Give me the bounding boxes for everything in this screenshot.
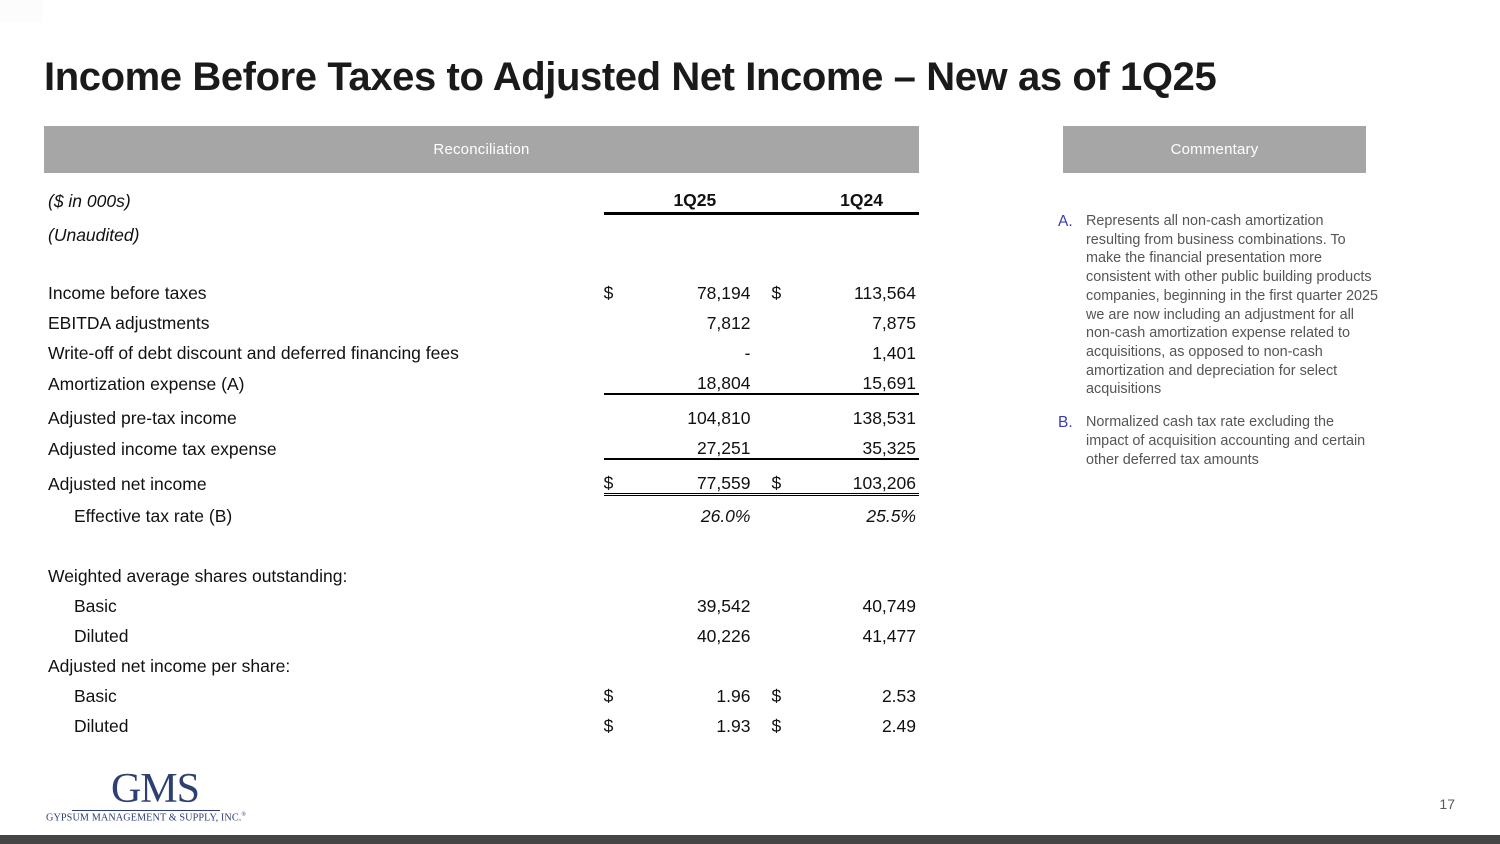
note-marker: A. <box>1058 212 1086 399</box>
reconciliation-section-label: Reconciliation <box>433 141 529 158</box>
row-currency-1q25 <box>604 333 640 363</box>
row-label: Adjusted net income <box>44 459 604 495</box>
row-currency-1q25: $ <box>604 706 640 736</box>
corner-artifact <box>0 0 42 22</box>
row-value-1q25: - <box>639 333 753 363</box>
row-label: Basic <box>44 586 604 616</box>
table-row-subtotal: Adjusted pre-tax income 104,810 138,531 <box>44 394 919 428</box>
row-value-1q25: 1.93 <box>639 706 753 736</box>
eps-section-header-row: Adjusted net income per share: <box>44 646 919 676</box>
commentary-section-label: Commentary <box>1171 141 1259 158</box>
page-title: Income Before Taxes to Adjusted Net Inco… <box>44 55 1216 100</box>
logo-wordmark-text: GYPSUM MANAGEMENT & SUPPLY, INC. <box>46 812 241 823</box>
row-value-1q24: 15,691 <box>807 363 919 394</box>
commentary-panel: A. Represents all non-cash amortization … <box>1058 212 1378 483</box>
gms-logo: GMS GYPSUM MANAGEMENT & SUPPLY, INC.® <box>46 770 246 823</box>
table-row: Amortization expense (A) 18,804 15,691 <box>44 363 919 394</box>
row-value-1q24: 103,206 <box>807 459 919 495</box>
row-currency-1q24 <box>753 303 807 333</box>
row-currency-1q24 <box>753 616 807 646</box>
row-currency-1q24 <box>753 495 807 527</box>
table-row: Diluted 40,226 41,477 <box>44 616 919 646</box>
table-row: Diluted $ 1.93 $ 2.49 <box>44 706 919 736</box>
row-value-1q25: 7,812 <box>639 303 753 333</box>
registered-trademark-icon: ® <box>241 812 246 818</box>
row-label: Diluted <box>44 616 604 646</box>
row-value-1q24: 35,325 <box>807 428 919 459</box>
row-value-1q25: 104,810 <box>639 394 753 428</box>
row-value-1q25: 39,542 <box>639 586 753 616</box>
commentary-note-b: B. Normalized cash tax rate excluding th… <box>1058 413 1378 469</box>
row-currency-1q25 <box>604 394 640 428</box>
row-value-1q25: 78,194 <box>639 273 753 303</box>
row-label: Adjusted pre-tax income <box>44 394 604 428</box>
row-currency-1q24: $ <box>753 706 807 736</box>
row-currency-1q25 <box>604 495 640 527</box>
row-currency-1q25: $ <box>604 676 640 706</box>
table-row: Write-off of debt discount and deferred … <box>44 333 919 363</box>
column-header-1q25: 1Q25 <box>639 176 753 214</box>
row-value-1q24: 7,875 <box>807 303 919 333</box>
page-number: 17 <box>1439 796 1455 812</box>
row-label: Write-off of debt discount and deferred … <box>44 333 604 363</box>
shares-header: Weighted average shares outstanding: <box>44 556 604 586</box>
spacer-row <box>44 245 919 273</box>
spacer-row <box>44 526 919 556</box>
shares-section-header-row: Weighted average shares outstanding: <box>44 556 919 586</box>
row-label: Adjusted income tax expense <box>44 428 604 459</box>
column-header-1q24: 1Q24 <box>807 176 919 214</box>
commentary-section-header: Commentary <box>1063 126 1366 173</box>
table-header-row: ($ in 000s) 1Q25 1Q24 <box>44 176 919 214</box>
row-currency-1q24 <box>753 363 807 394</box>
row-value-1q25: 27,251 <box>639 428 753 459</box>
row-value-1q24: 138,531 <box>807 394 919 428</box>
row-currency-1q25: $ <box>604 459 640 495</box>
row-currency-1q25 <box>604 616 640 646</box>
row-value-1q24: 113,564 <box>807 273 919 303</box>
row-label: Diluted <box>44 706 604 736</box>
row-value-1q24: 2.49 <box>807 706 919 736</box>
col-1q24-spacer <box>753 176 807 214</box>
table-row: Income before taxes $ 78,194 $ 113,564 <box>44 273 919 303</box>
bottom-accent-bar <box>0 835 1500 844</box>
table-row: Basic $ 1.96 $ 2.53 <box>44 676 919 706</box>
reconciliation-table: ($ in 000s) 1Q25 1Q24 (Unaudited) Income… <box>44 176 919 736</box>
note-text: Represents all non-cash amortization res… <box>1086 212 1378 399</box>
row-value-1q24: 40,749 <box>807 586 919 616</box>
row-currency-1q24 <box>753 333 807 363</box>
row-label: Effective tax rate (B) <box>44 495 604 527</box>
commentary-note-a: A. Represents all non-cash amortization … <box>1058 212 1378 399</box>
row-currency-1q24 <box>753 428 807 459</box>
row-label: Income before taxes <box>44 273 604 303</box>
row-label: EBITDA adjustments <box>44 303 604 333</box>
row-currency-1q25 <box>604 363 640 394</box>
col-1q25-spacer <box>604 176 640 214</box>
logo-wordmark: GYPSUM MANAGEMENT & SUPPLY, INC.® <box>46 812 246 823</box>
audit-note: (Unaudited) <box>44 214 604 246</box>
eps-header: Adjusted net income per share: <box>44 646 604 676</box>
row-value-1q24: 2.53 <box>807 676 919 706</box>
row-value-1q25: 1.96 <box>639 676 753 706</box>
note-marker: B. <box>1058 413 1086 469</box>
row-value-1q24: 1,401 <box>807 333 919 363</box>
row-currency-1q24 <box>753 394 807 428</box>
row-value-1q25: 40,226 <box>639 616 753 646</box>
table-row: EBITDA adjustments 7,812 7,875 <box>44 303 919 333</box>
row-currency-1q24: $ <box>753 459 807 495</box>
row-currency-1q24: $ <box>753 273 807 303</box>
row-value-1q24: 41,477 <box>807 616 919 646</box>
table-row: Basic 39,542 40,749 <box>44 586 919 616</box>
audit-note-row: (Unaudited) <box>44 214 919 246</box>
row-label: Basic <box>44 676 604 706</box>
row-value-1q25: 26.0% <box>639 495 753 527</box>
table-row-total: Adjusted net income $ 77,559 $ 103,206 <box>44 459 919 495</box>
reconciliation-section-header: Reconciliation <box>44 126 919 173</box>
note-text: Normalized cash tax rate excluding the i… <box>1086 413 1378 469</box>
row-currency-1q25 <box>604 586 640 616</box>
row-value-1q25: 77,559 <box>639 459 753 495</box>
row-currency-1q24 <box>753 586 807 616</box>
row-label: Amortization expense (A) <box>44 363 604 394</box>
row-value-1q25: 18,804 <box>639 363 753 394</box>
row-currency-1q24: $ <box>753 676 807 706</box>
logo-mark: GMS <box>46 770 246 810</box>
row-value-1q24: 25.5% <box>807 495 919 527</box>
row-currency-1q25 <box>604 428 640 459</box>
table-row-effective-tax-rate: Effective tax rate (B) 26.0% 25.5% <box>44 495 919 527</box>
row-currency-1q25 <box>604 303 640 333</box>
table-row: Adjusted income tax expense 27,251 35,32… <box>44 428 919 459</box>
unit-note: ($ in 000s) <box>44 176 604 214</box>
row-currency-1q25: $ <box>604 273 640 303</box>
